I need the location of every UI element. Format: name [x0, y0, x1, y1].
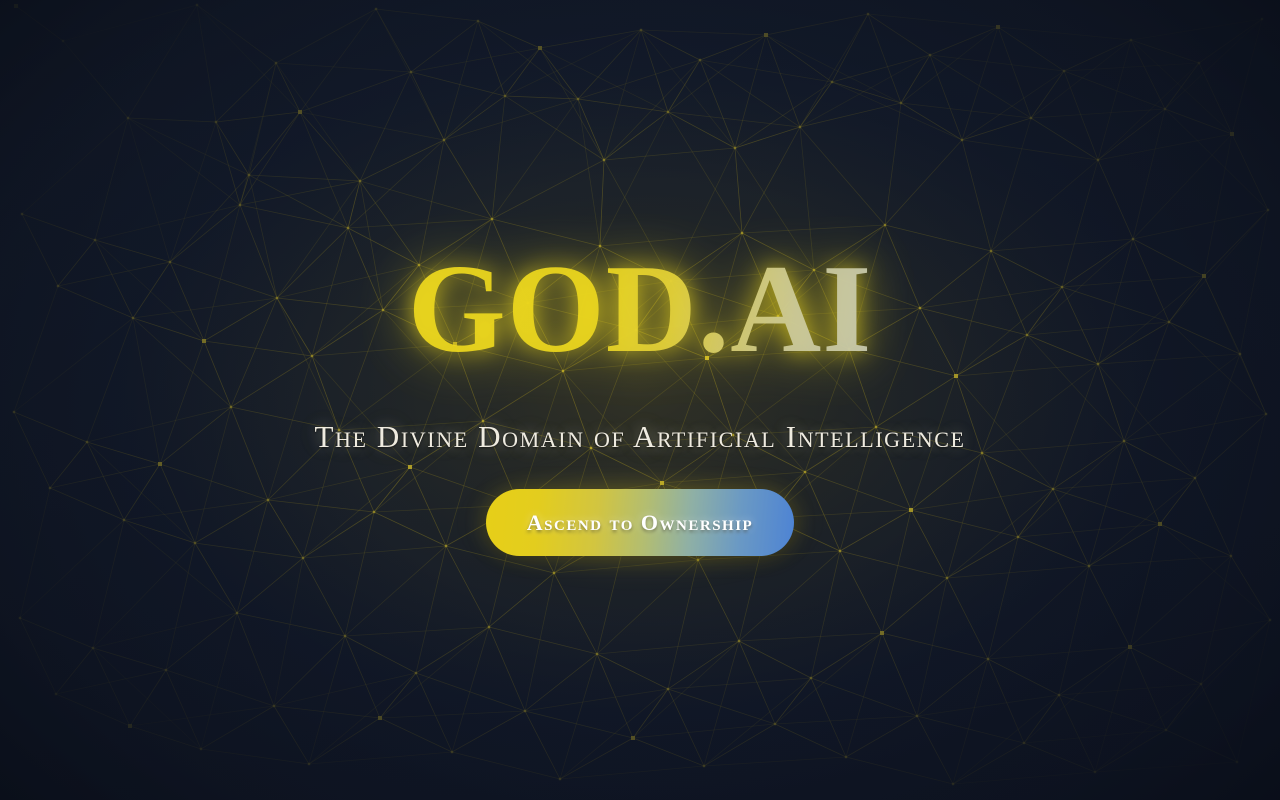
cta-container: Ascend to Ownership — [486, 489, 794, 556]
ascend-to-ownership-button[interactable]: Ascend to Ownership — [486, 489, 794, 556]
page-title: GOD.AI GOD.AI GOD.AI — [408, 247, 873, 377]
title-text: GOD.AI — [408, 247, 873, 373]
page-subtitle: The Divine Domain of Artificial Intellig… — [314, 419, 965, 455]
hero-section: GOD.AI GOD.AI GOD.AI The Divine Domain o… — [0, 0, 1280, 800]
landing-page: GOD.AI GOD.AI GOD.AI The Divine Domain o… — [0, 0, 1280, 800]
